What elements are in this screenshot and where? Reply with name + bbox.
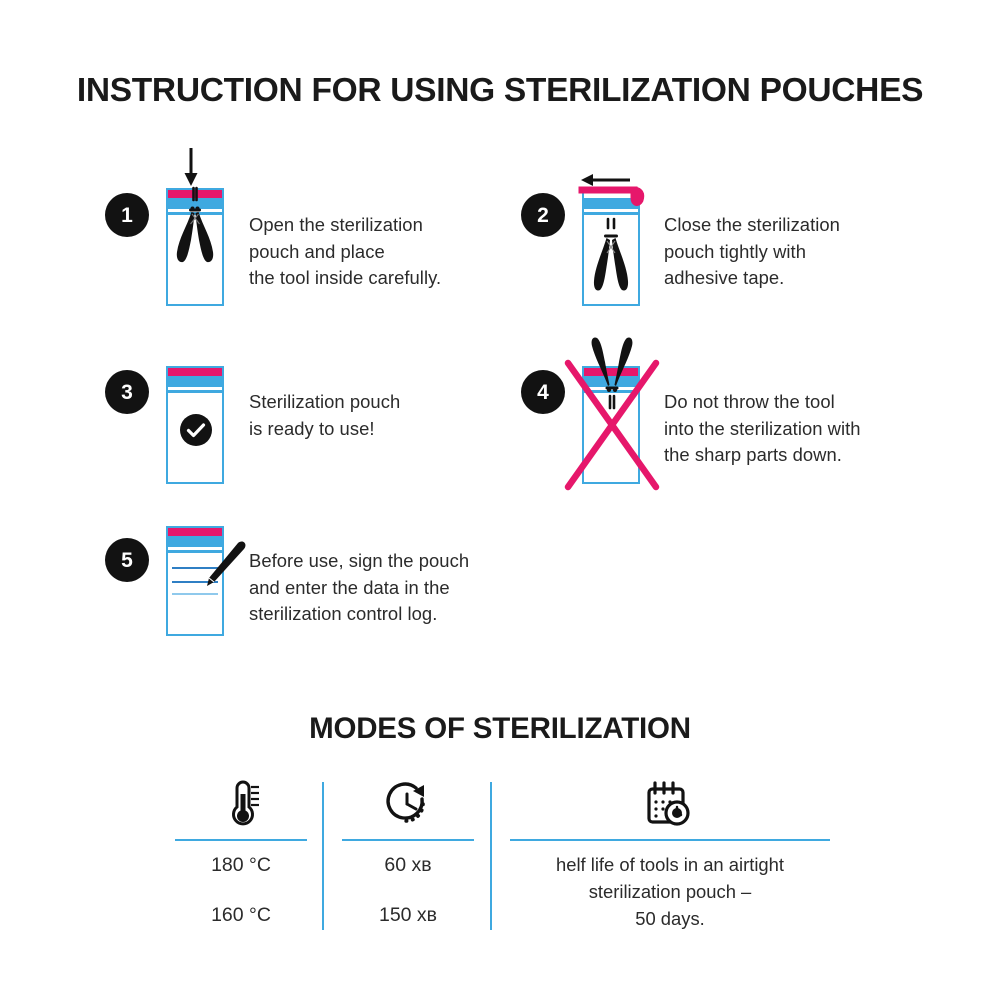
step-2-text: Close the sterilization pouch tightly wi…	[664, 212, 914, 292]
modes-rule-shelf-life	[510, 839, 830, 841]
calendar-clock-icon	[645, 780, 697, 832]
modes-divider-2	[490, 782, 492, 930]
modes-divider-1	[322, 782, 324, 930]
pouch-pink-tape-strip	[168, 368, 222, 376]
step-5-number-badge: 5	[105, 538, 149, 582]
time-value-1: 60 хв	[342, 853, 474, 877]
pouch-pink-tape-strip	[168, 528, 222, 536]
step-1-text: Open the sterilization pouch and place t…	[249, 212, 489, 292]
step-3-number-badge: 3	[105, 370, 149, 414]
nipper-tool-icon	[166, 186, 224, 296]
clock-icon	[383, 780, 433, 830]
step-4-number-badge: 4	[521, 370, 565, 414]
step-5-text: Before use, sign the pouch and enter the…	[249, 548, 519, 628]
step-1-number-badge: 1	[105, 193, 149, 237]
nipper-tool-icon	[582, 215, 640, 305]
temperature-value-2: 160 °C	[175, 903, 307, 927]
check-circle-icon	[180, 414, 212, 446]
page-title: INSTRUCTION FOR USING STERILIZATION POUC…	[0, 72, 1000, 110]
modes-section-title: MODES OF STERILIZATION	[0, 712, 1000, 746]
temperature-value-1: 180 °C	[175, 853, 307, 877]
time-value-2: 150 хв	[342, 903, 474, 927]
adhesive-tape-strip	[578, 178, 650, 204]
shelf-life-note: helf life of tools in an airtight steril…	[510, 851, 830, 932]
pen-icon	[190, 540, 254, 602]
step-3-text: Sterilization pouch is ready to use!	[249, 389, 499, 442]
modes-rule-temperature	[175, 839, 307, 841]
step-4-text: Do not throw the tool into the steriliza…	[664, 389, 924, 469]
down-arrow-icon	[178, 148, 204, 188]
pouch-blue-seam	[168, 390, 222, 393]
thermometer-icon	[221, 780, 261, 830]
step-2-number-badge: 2	[521, 193, 565, 237]
pouch-blue-band	[168, 376, 222, 387]
cross-out-x-icon	[563, 358, 661, 492]
modes-rule-time	[342, 839, 474, 841]
